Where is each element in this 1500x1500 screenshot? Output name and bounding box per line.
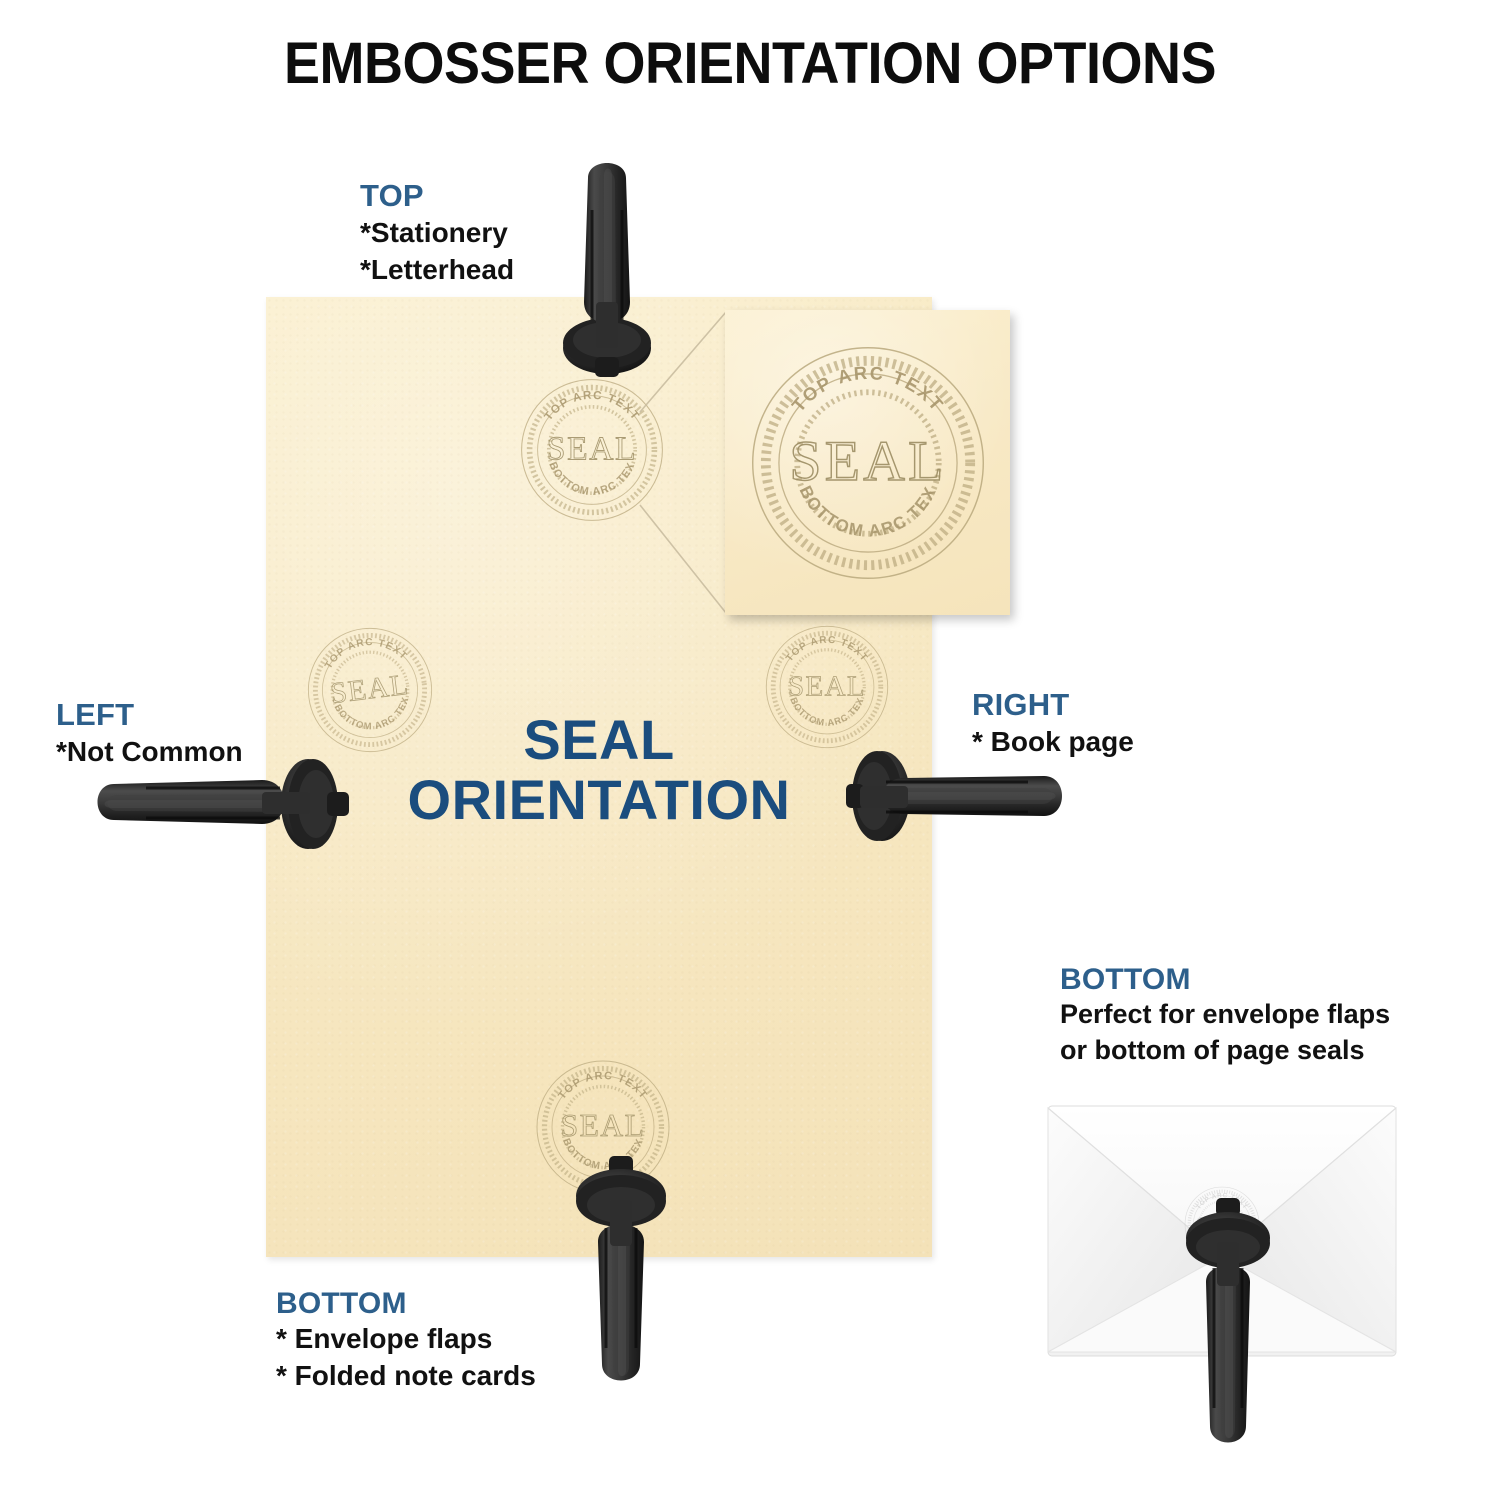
callout-heading-left: LEFT [56,697,243,734]
seal-center-text: SEAL [561,1108,646,1143]
callout-line: * Folded note cards [276,1358,536,1395]
seal-top-arc-text: TOP ARC TEXT [556,1070,650,1102]
embosser-tool-top [552,152,662,382]
svg-text:TOP ARC TEXT: TOP ARC TEXT [542,389,643,423]
seal-center-text: SEAL [789,430,946,493]
seal-center-text: SEAL [788,670,866,702]
svg-text:TOP ARC TEXT: TOP ARC TEXT [320,632,410,672]
callout-line: * Book page [972,724,1134,761]
callout-heading-bottom-right: BOTTOM [1060,962,1390,997]
callout-heading-top: TOP [360,178,514,215]
seal-top-arc-text: TOP ARC TEXT [320,632,410,672]
seal-impression-top: TOP ARC TEXT BOTTOM ARC TEX SEAL [512,370,672,530]
callout-block-left: LEFT *Not Common [56,697,243,771]
svg-text:TOP ARC TEXT: TOP ARC TEXT [784,635,870,664]
callout-block-top: TOP *Stationery *Letterhead [360,178,514,288]
svg-text:TOP ARC TEXT: TOP ARC TEXT [787,362,948,416]
center-seal-orientation-label: SEAL ORIENTATION [266,710,932,831]
center-line-2: ORIENTATION [266,770,932,830]
infographic-canvas: EMBOSSER ORIENTATION OPTIONS TOP ARC TEX… [0,0,1500,1500]
callout-line: Perfect for envelope flaps [1060,997,1390,1033]
callout-heading-bottom-left: BOTTOM [276,1286,536,1321]
callout-line: or bottom of page seals [1060,1033,1390,1069]
seal-impression-zoomed: TOP ARC TEXT BOTTOM ARC TEX SEAL [737,332,999,594]
callout-block-right: RIGHT * Book page [972,687,1134,761]
seal-top-arc-text: TOP ARC TEXT [784,635,870,664]
svg-text:TOP ARC TEXT: TOP ARC TEXT [556,1070,650,1102]
page-title: EMBOSSER ORIENTATION OPTIONS [53,30,1448,97]
embosser-tool-bottom [566,1150,676,1400]
seal-top-arc-text: TOP ARC TEXT [787,362,948,416]
embosser-tool-envelope [1178,1194,1278,1464]
callout-line: * Envelope flaps [276,1321,536,1358]
callout-line: *Stationery [360,215,514,252]
seal-top-arc-text: TOP ARC TEXT [542,389,643,423]
callout-block-bottom-left: BOTTOM * Envelope flaps * Folded note ca… [276,1286,536,1395]
callout-line: *Not Common [56,734,243,771]
callout-line: *Letterhead [360,252,514,289]
callout-heading-right: RIGHT [972,687,1134,724]
center-line-1: SEAL [523,708,674,771]
seal-zoom-callout: TOP ARC TEXT BOTTOM ARC TEX SEAL [725,310,1010,615]
seal-center-text: SEAL [547,431,637,468]
callout-block-bottom-right: BOTTOM Perfect for envelope flaps or bot… [1060,962,1390,1069]
